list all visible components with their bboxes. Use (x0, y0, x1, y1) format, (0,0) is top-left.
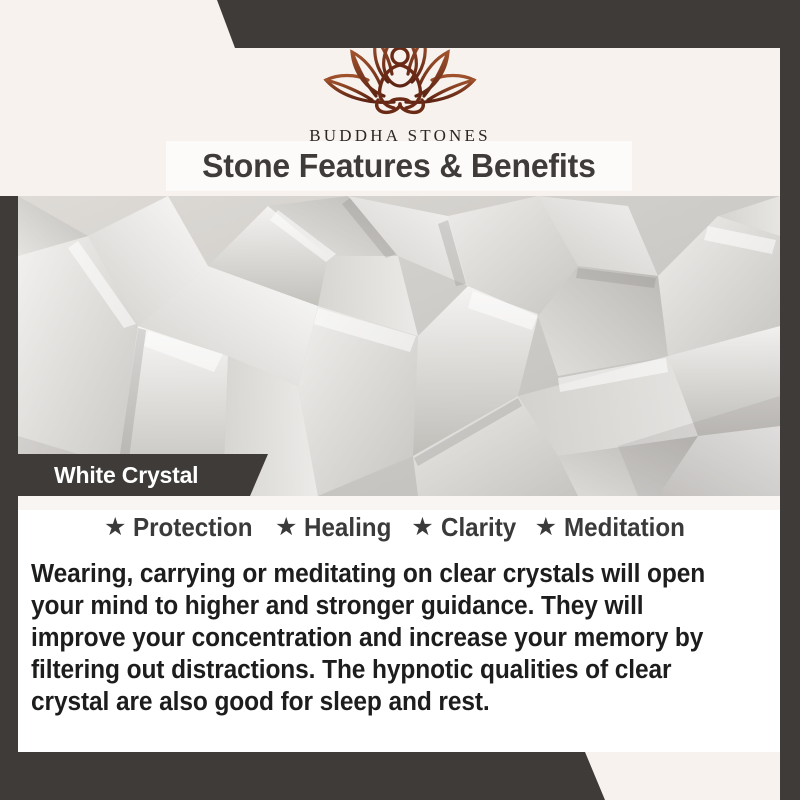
crystal-photo: White Crystal (18, 196, 780, 496)
benefit-item: ★ Meditation (535, 512, 694, 543)
benefit-label: Protection (133, 512, 253, 543)
star-icon: ★ (104, 515, 126, 540)
stone-name-badge: White Crystal (18, 454, 288, 496)
content-top-tint (18, 496, 780, 510)
benefit-label: Healing (304, 512, 391, 543)
stone-benefits-poster: BUDDHA STONES Stone Features & Benefits (0, 0, 800, 800)
benefit-item: ★ Clarity (411, 512, 521, 543)
frame-bottom-border (0, 752, 800, 800)
star-icon: ★ (411, 515, 433, 540)
benefit-label: Clarity (441, 512, 516, 543)
benefits-list: ★ Protection ★ Healing ★ Clarity ★ Medit… (18, 512, 780, 543)
content-panel: ★ Protection ★ Healing ★ Clarity ★ Medit… (18, 496, 780, 752)
description-text: Wearing, carrying or meditating on clear… (31, 558, 741, 718)
page-title-panel: Stone Features & Benefits (166, 141, 632, 191)
benefit-item: ★ Healing (275, 512, 398, 543)
benefit-item: ★ Protection (104, 512, 262, 543)
frame-left-top-mask (0, 0, 18, 196)
page-title: Stone Features & Benefits (202, 147, 596, 185)
benefit-label: Meditation (564, 512, 685, 543)
stone-name-label: White Crystal (18, 462, 198, 489)
star-icon: ★ (535, 515, 557, 540)
frame-right-border (780, 0, 800, 800)
crystal-photo-illustration (18, 196, 780, 496)
star-icon: ★ (275, 515, 297, 540)
